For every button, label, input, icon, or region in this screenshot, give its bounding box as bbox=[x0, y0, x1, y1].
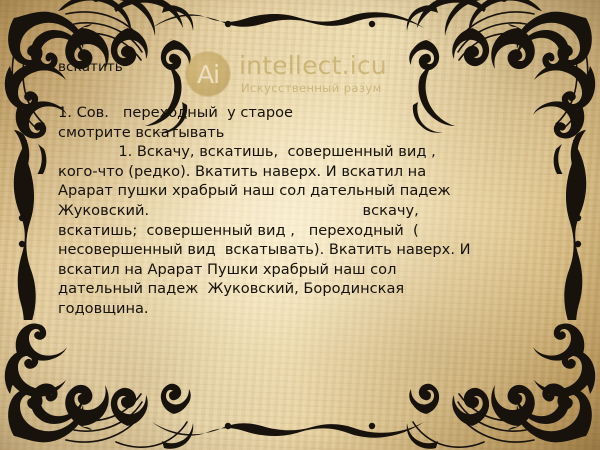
dictionary-article: вскатить 1. Сов. переходный у старое смо… bbox=[58, 60, 538, 318]
headword: вскатить bbox=[58, 60, 538, 75]
edge-scroll-right bbox=[562, 140, 600, 324]
edge-scroll-bottom bbox=[150, 408, 450, 450]
corner-flourish-bottom-right bbox=[404, 312, 600, 450]
definition-body: 1. Вскачу, вскатишь, совершенный вид , к… bbox=[58, 142, 538, 318]
sense-label: 1. Сов. переходный у старое bbox=[58, 103, 538, 123]
edge-scroll-top bbox=[150, 0, 450, 42]
see-also-reference: смотрите вскатывать bbox=[58, 123, 538, 143]
corner-flourish-bottom-left bbox=[0, 312, 196, 450]
edge-scroll-left bbox=[0, 140, 38, 324]
parchment-page: Ai intellect.icu Искусственный разум вск… bbox=[0, 0, 600, 450]
